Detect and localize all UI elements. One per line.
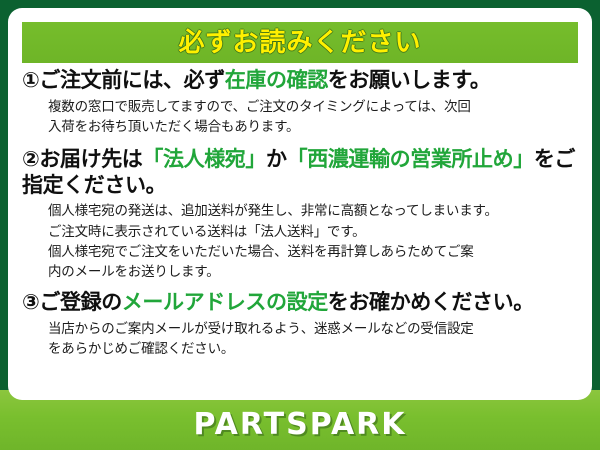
notice-item-2-body: 個人様宅宛の発送は、追加送料が発生し、非常に高額となってしまいます。 ご注文時に… [48, 201, 586, 282]
notice-banner: 必ずお読みください ①ご注文前には、必ず在庫の確認をお願いします。 複数の窓口で… [0, 0, 600, 450]
item-number-1: ① [22, 68, 39, 92]
notice-item-3-body: 当店からのご案内メールが受け取れるよう、迷惑メールなどの受信設定 をあらかじめご… [48, 319, 586, 360]
item-1-heading-highlight: 在庫の確認 [225, 68, 328, 92]
notice-item-3-heading: ③ご登録のメールアドレスの設定をお確かめください。 [22, 290, 586, 316]
item-2-heading-highlight-2: 「西濃運輸の営業所止め」 [287, 147, 534, 171]
notice-item-2: ②お届け先は「法人様宛」か「西濃運輸の営業所止め」をご指定ください。 個人様宅宛… [22, 147, 586, 282]
item-2-heading-highlight-1: 「法人様宛」 [142, 147, 266, 171]
notice-item-1-heading: ①ご注文前には、必ず在庫の確認をお願いします。 [22, 68, 586, 94]
item-2-heading-part-2: か [266, 147, 287, 171]
title-banner: 必ずお読みください [22, 22, 578, 63]
notice-item-list: ①ご注文前には、必ず在庫の確認をお願いします。 複数の窓口で販売してますので、ご… [8, 68, 592, 359]
item-1-heading-part-0: ご注文前には、必ず [39, 68, 224, 92]
notice-item-1-body: 複数の窓口で販売してますので、ご注文のタイミングによっては、次回 入荷をお待ち頂… [48, 97, 586, 138]
notice-item-2-heading: ②お届け先は「法人様宛」か「西濃運輸の営業所止め」をご指定ください。 [22, 147, 586, 198]
item-3-heading-part-0: ご登録の [39, 290, 121, 314]
item-number-3: ③ [22, 290, 39, 314]
banner-title: 必ずお読みください [178, 30, 421, 56]
item-number-2: ② [22, 147, 39, 171]
item-1-heading-part-2: をお願いします。 [328, 68, 491, 92]
item-3-heading-highlight: メールアドレスの設定 [122, 290, 328, 314]
notice-item-3: ③ご登録のメールアドレスの設定をお確かめください。 当店からのご案内メールが受け… [22, 290, 586, 359]
item-3-heading-part-2: をお確かめください。 [328, 290, 534, 314]
notice-card: 必ずお読みください ①ご注文前には、必ず在庫の確認をお願いします。 複数の窓口で… [8, 8, 592, 400]
notice-item-1: ①ご注文前には、必ず在庫の確認をお願いします。 複数の窓口で販売してますので、ご… [22, 68, 586, 137]
item-2-heading-part-0: お届け先は [39, 147, 142, 171]
